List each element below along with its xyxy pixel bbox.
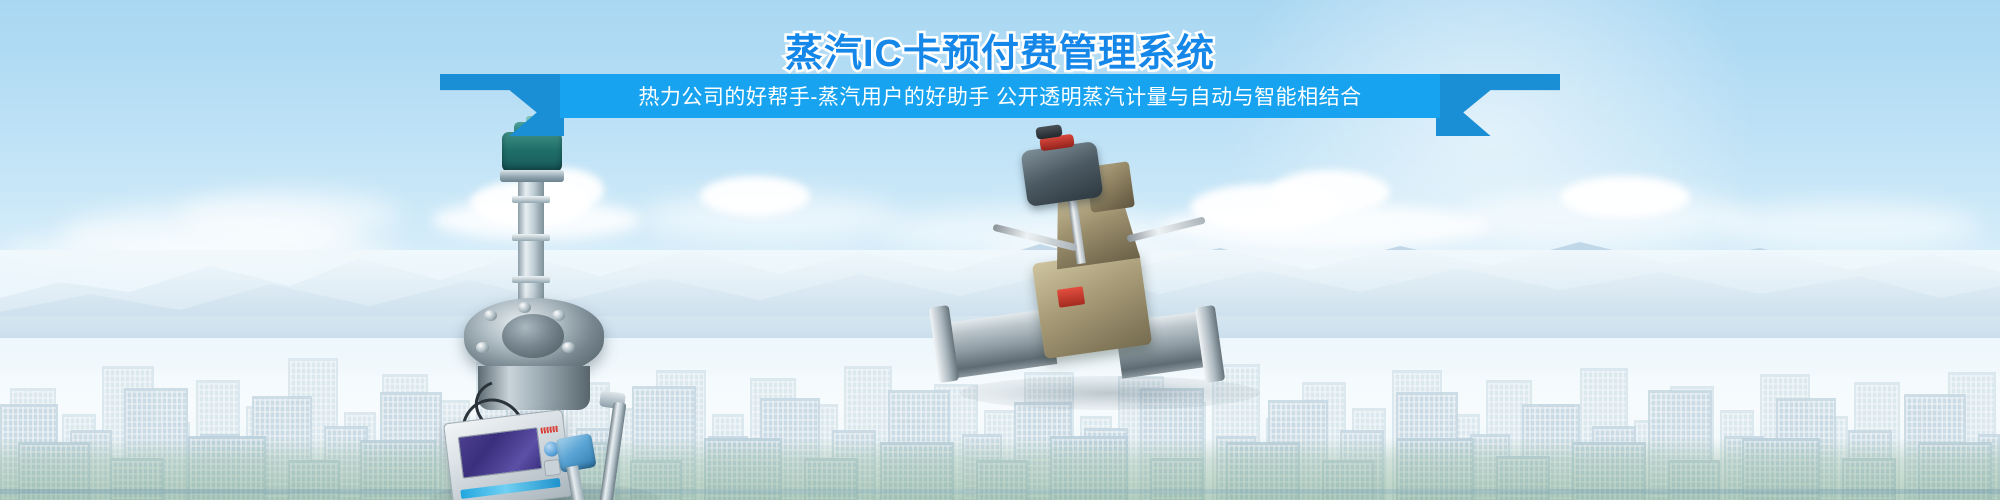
flowmeter-neck-ring (512, 234, 550, 241)
vortex-steam-flowmeter (440, 130, 670, 500)
subtitle-ribbon: 热力公司的好帮手-蒸汽用户的好助手 公开透明蒸汽计量与自动与智能相结合 (440, 74, 1560, 118)
road-line (0, 489, 2000, 494)
flange-bolt (562, 342, 575, 353)
air-tube-right (1126, 216, 1205, 242)
flange-bolt (476, 342, 489, 353)
flange-bolt (518, 302, 531, 313)
valve-red-tag (1057, 286, 1085, 307)
flowmeter-neck-ring (512, 196, 550, 203)
valve-body (1032, 249, 1152, 359)
temperature-probe (599, 402, 627, 500)
flowmeter-transmitter-head (502, 132, 562, 172)
subtitle-text: 热力公司的好帮手-蒸汽用户的好助手 公开透明蒸汽计量与自动与智能相结合 (560, 74, 1440, 118)
pneumatic-control-valve (1000, 138, 1220, 400)
controller-label (540, 426, 559, 434)
flange-hub (502, 314, 564, 358)
flange-bolt (484, 310, 497, 321)
banner-stage: 蒸汽IC卡预付费管理系统 热力公司的好帮手-蒸汽用户的好助手 公开透明蒸汽计量与… (0, 0, 2000, 500)
flowmeter-neck-ring (512, 276, 550, 283)
controller-lcd-screen (458, 427, 543, 478)
controller-accent-strip (460, 478, 560, 499)
ic-card-controller[interactable] (443, 409, 573, 500)
pneumatic-actuator (1020, 141, 1103, 207)
page-title: 蒸汽IC卡预付费管理系统 (0, 22, 2000, 77)
flowmeter-collar (500, 170, 564, 182)
